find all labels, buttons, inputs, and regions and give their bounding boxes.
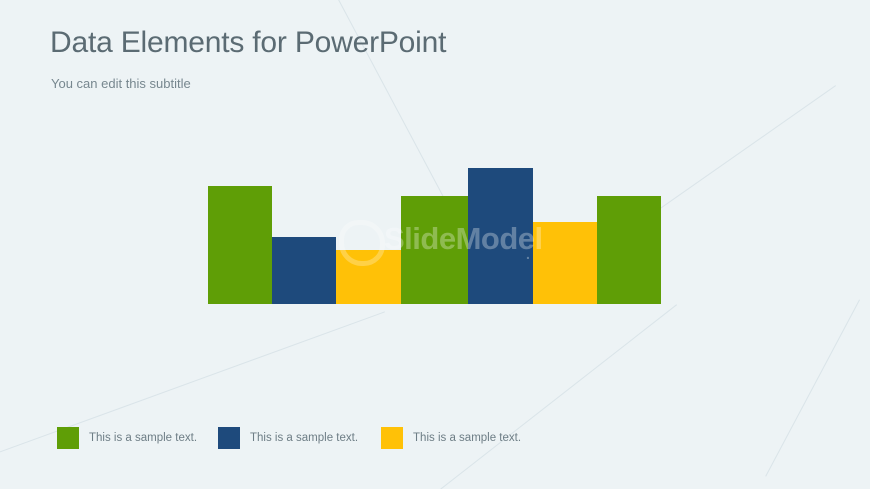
slide-canvas: Data Elements for PowerPoint You can edi…: [0, 0, 870, 489]
bar-chart: [208, 160, 661, 304]
chart-legend: This is a sample text.This is a sample t…: [57, 427, 521, 449]
chart-bar: [401, 196, 468, 304]
legend-item-label: This is a sample text.: [89, 432, 197, 444]
chart-bar: [336, 250, 401, 304]
page-subtitle: You can edit this subtitle: [51, 76, 191, 91]
chart-bar: [533, 222, 597, 304]
chart-bar: [208, 186, 272, 304]
decorative-guide-line: [765, 300, 860, 477]
legend-swatch-blue: [218, 427, 240, 449]
chart-bar: [597, 196, 661, 304]
legend-item[interactable]: This is a sample text.: [381, 427, 521, 449]
legend-item-label: This is a sample text.: [250, 432, 358, 444]
chart-bar: [272, 237, 336, 304]
legend-item-label: This is a sample text.: [413, 432, 521, 444]
chart-bar: [468, 168, 533, 304]
decorative-guide-line: [440, 304, 677, 489]
legend-item[interactable]: This is a sample text.: [57, 427, 197, 449]
legend-item[interactable]: This is a sample text.: [218, 427, 358, 449]
legend-swatch-green: [57, 427, 79, 449]
page-title: Data Elements for PowerPoint: [50, 26, 446, 60]
legend-swatch-yellow: [381, 427, 403, 449]
